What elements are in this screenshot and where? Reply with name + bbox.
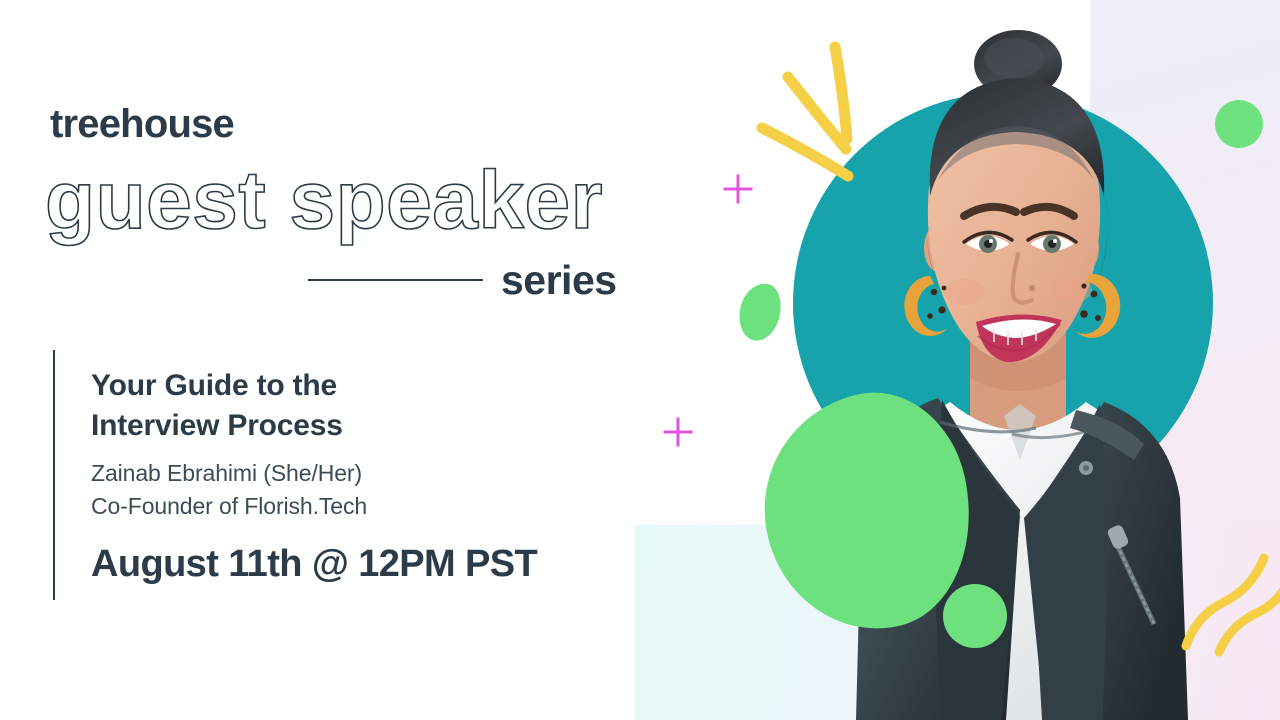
series-divider-rule [308, 279, 483, 281]
series-row: series [308, 255, 628, 305]
magenta-plus-group [665, 176, 751, 445]
event-info-block: Your Guide to the Interview Process Zain… [91, 366, 611, 583]
plus-icon-upper [725, 176, 751, 202]
green-blob-small [734, 279, 787, 345]
talk-title: Your Guide to the Interview Process [91, 366, 611, 445]
speaker-name: Zainab Ebrahimi (She/Her) [91, 457, 611, 490]
info-block-vertical-rule [53, 350, 55, 600]
talk-title-line-2: Interview Process [91, 409, 343, 442]
green-circle-top-right [1215, 100, 1263, 148]
event-datetime: August 11th @ 12PM PST [91, 545, 611, 583]
brand-name: treehouse [50, 104, 234, 144]
plus-icon-lower [665, 419, 691, 445]
guest-speaker-promo-poster: treehouse guest speaker series Your Guid… [0, 0, 1280, 720]
headline-outline: guest speaker [45, 160, 603, 242]
talk-title-line-1: Your Guide to the [91, 369, 337, 402]
green-circle-bottom [943, 584, 1007, 648]
speaker-role: Co-Founder of Florish.Tech [91, 490, 611, 523]
series-label: series [501, 260, 617, 301]
